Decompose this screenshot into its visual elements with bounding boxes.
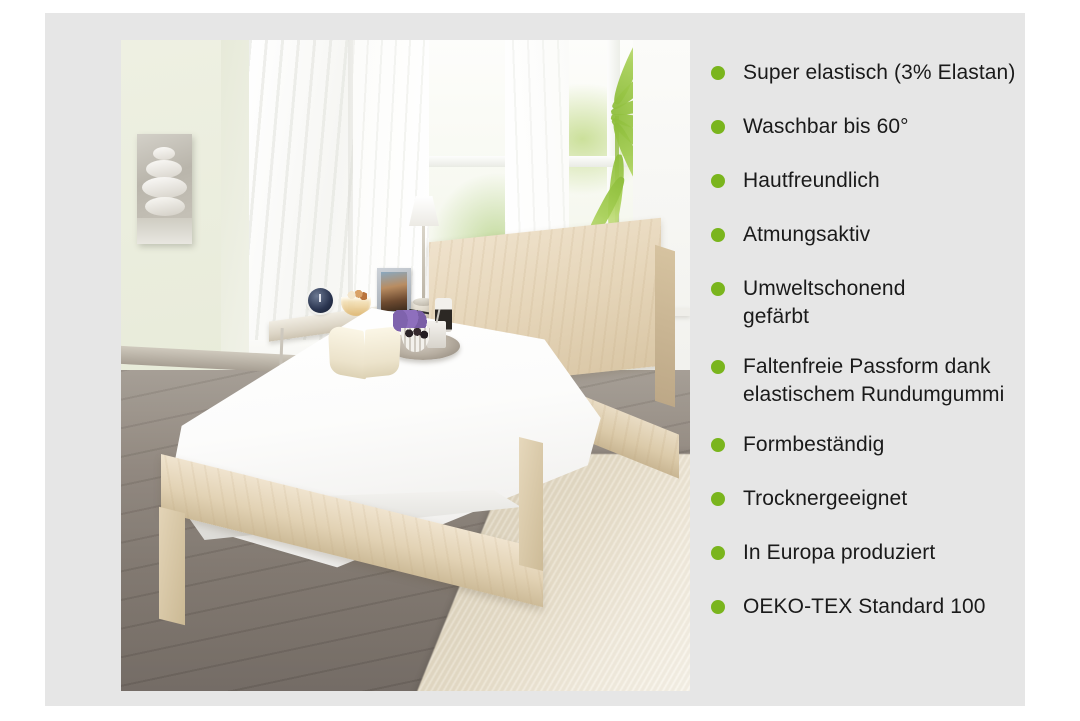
- bed-leg-right: [519, 437, 543, 571]
- feature-label: Faltenfreie Passform dank elastischem Ru…: [743, 353, 1004, 409]
- feature-item: Faltenfreie Passform dank elastischem Ru…: [711, 353, 1061, 409]
- product-feature-panel: Super elastisch (3% Elastan) Waschbar bi…: [0, 0, 1080, 721]
- stone-middle: [142, 177, 187, 198]
- feature-item: Umweltschonend gefärbt: [711, 275, 1061, 331]
- bullet-icon: [711, 546, 725, 560]
- content-panel: Super elastisch (3% Elastan) Waschbar bi…: [45, 13, 1025, 706]
- feature-label: Super elastisch (3% Elastan): [743, 59, 1015, 87]
- desk-clock: [308, 288, 333, 313]
- product-photo: [121, 40, 690, 691]
- stone-bottom: [145, 197, 185, 216]
- bed-leg-left: [159, 507, 185, 625]
- potpourri: [345, 289, 367, 301]
- bullet-icon: [711, 228, 725, 242]
- feature-item: Atmungsaktiv: [711, 221, 1061, 249]
- feature-item: Hautfreundlich: [711, 167, 1061, 195]
- feature-label: Trocknergeeignet: [743, 485, 907, 513]
- photo-frame: [377, 268, 411, 315]
- book-page-left: [328, 325, 366, 380]
- feature-item: Super elastisch (3% Elastan): [711, 59, 1061, 87]
- feature-list: Super elastisch (3% Elastan) Waschbar bi…: [711, 59, 1061, 647]
- feature-label: Waschbar bis 60°: [743, 113, 909, 141]
- feature-item: OEKO-TEX Standard 100: [711, 593, 1061, 621]
- stone-upper: [146, 160, 182, 178]
- bullet-icon: [711, 66, 725, 80]
- feature-label: Hautfreundlich: [743, 167, 880, 195]
- table-lamp-stem: [422, 226, 425, 302]
- bullet-icon: [711, 438, 725, 452]
- stone-top: [153, 147, 175, 160]
- bullet-icon: [711, 492, 725, 506]
- open-book: [329, 328, 401, 376]
- feature-label: In Europa produziert: [743, 539, 935, 567]
- bullet-icon: [711, 600, 725, 614]
- bullet-icon: [711, 174, 725, 188]
- bullet-icon: [711, 282, 725, 296]
- framed-zen-stone-artwork: [137, 134, 192, 244]
- feature-label: Formbeständig: [743, 431, 884, 459]
- feature-label: Atmungsaktiv: [743, 221, 870, 249]
- feature-item: Trocknergeeignet: [711, 485, 1061, 513]
- feature-item: Formbeständig: [711, 431, 1061, 459]
- bullet-icon: [711, 360, 725, 374]
- bed-headboard-side: [655, 245, 675, 407]
- feature-label: OEKO-TEX Standard 100: [743, 593, 986, 621]
- feature-item: In Europa produziert: [711, 539, 1061, 567]
- bullet-icon: [711, 120, 725, 134]
- feature-item: Waschbar bis 60°: [711, 113, 1061, 141]
- feature-label: Umweltschonend gefärbt: [743, 275, 905, 331]
